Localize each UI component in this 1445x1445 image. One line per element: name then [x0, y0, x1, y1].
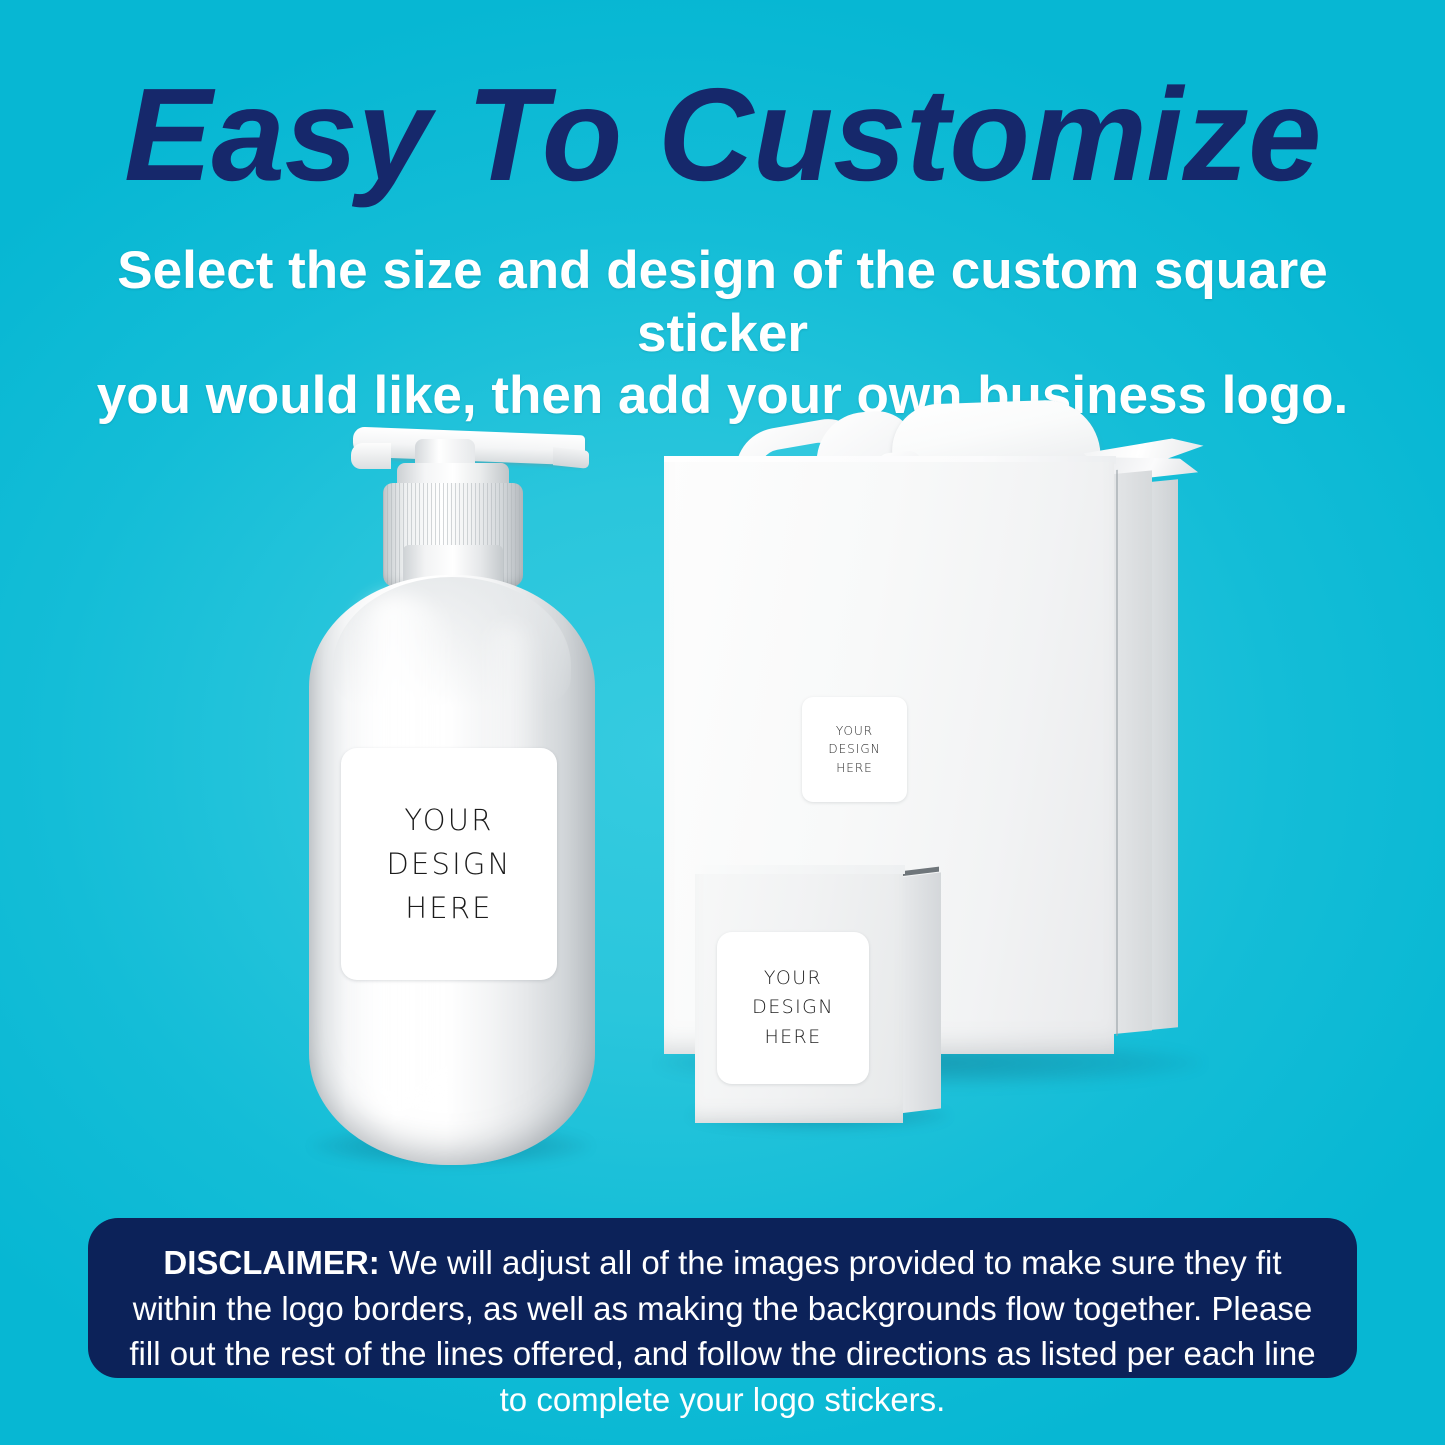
sticker-gift-box: YOUR DESIGN HERE — [802, 697, 907, 802]
gift-box-lid-seam — [1116, 470, 1118, 1036]
sticker-bottle: YOUR DESIGN HERE — [341, 748, 557, 980]
small-box-top-edge — [695, 865, 905, 874]
sticker-small-box-line-3: HERE — [764, 1023, 821, 1052]
sticker-small-box-line-2: DESIGN — [752, 993, 834, 1022]
sticker-bottle-line-1: YOUR — [404, 798, 493, 842]
pump-arm-left-end — [351, 443, 391, 469]
sticker-gift-box-line-1: YOUR — [836, 722, 873, 741]
promo-poster: Easy To Customize Select the size and de… — [0, 0, 1445, 1445]
pump-nozzle-tip — [553, 447, 589, 469]
gift-box-side-back — [1150, 479, 1178, 1030]
gift-box-side-face — [1114, 470, 1152, 1034]
sticker-gift-box-line-2: DESIGN — [828, 740, 880, 759]
sticker-gift-box-line-3: HERE — [836, 759, 873, 778]
pump-bottle-mockup: YOUR DESIGN HERE — [305, 425, 600, 1185]
disclaimer-lead: DISCLAIMER: — [163, 1244, 379, 1281]
sticker-small-box-line-1: YOUR — [764, 964, 822, 993]
sticker-bottle-line-2: DESIGN — [387, 842, 512, 886]
small-box-side-face — [903, 872, 941, 1113]
sticker-bottle-line-3: HERE — [405, 886, 492, 930]
sticker-small-box: YOUR DESIGN HERE — [717, 932, 869, 1084]
disclaimer-banner: DISCLAIMER: We will adjust all of the im… — [88, 1218, 1357, 1378]
disclaimer-text: DISCLAIMER: We will adjust all of the im… — [128, 1240, 1317, 1422]
